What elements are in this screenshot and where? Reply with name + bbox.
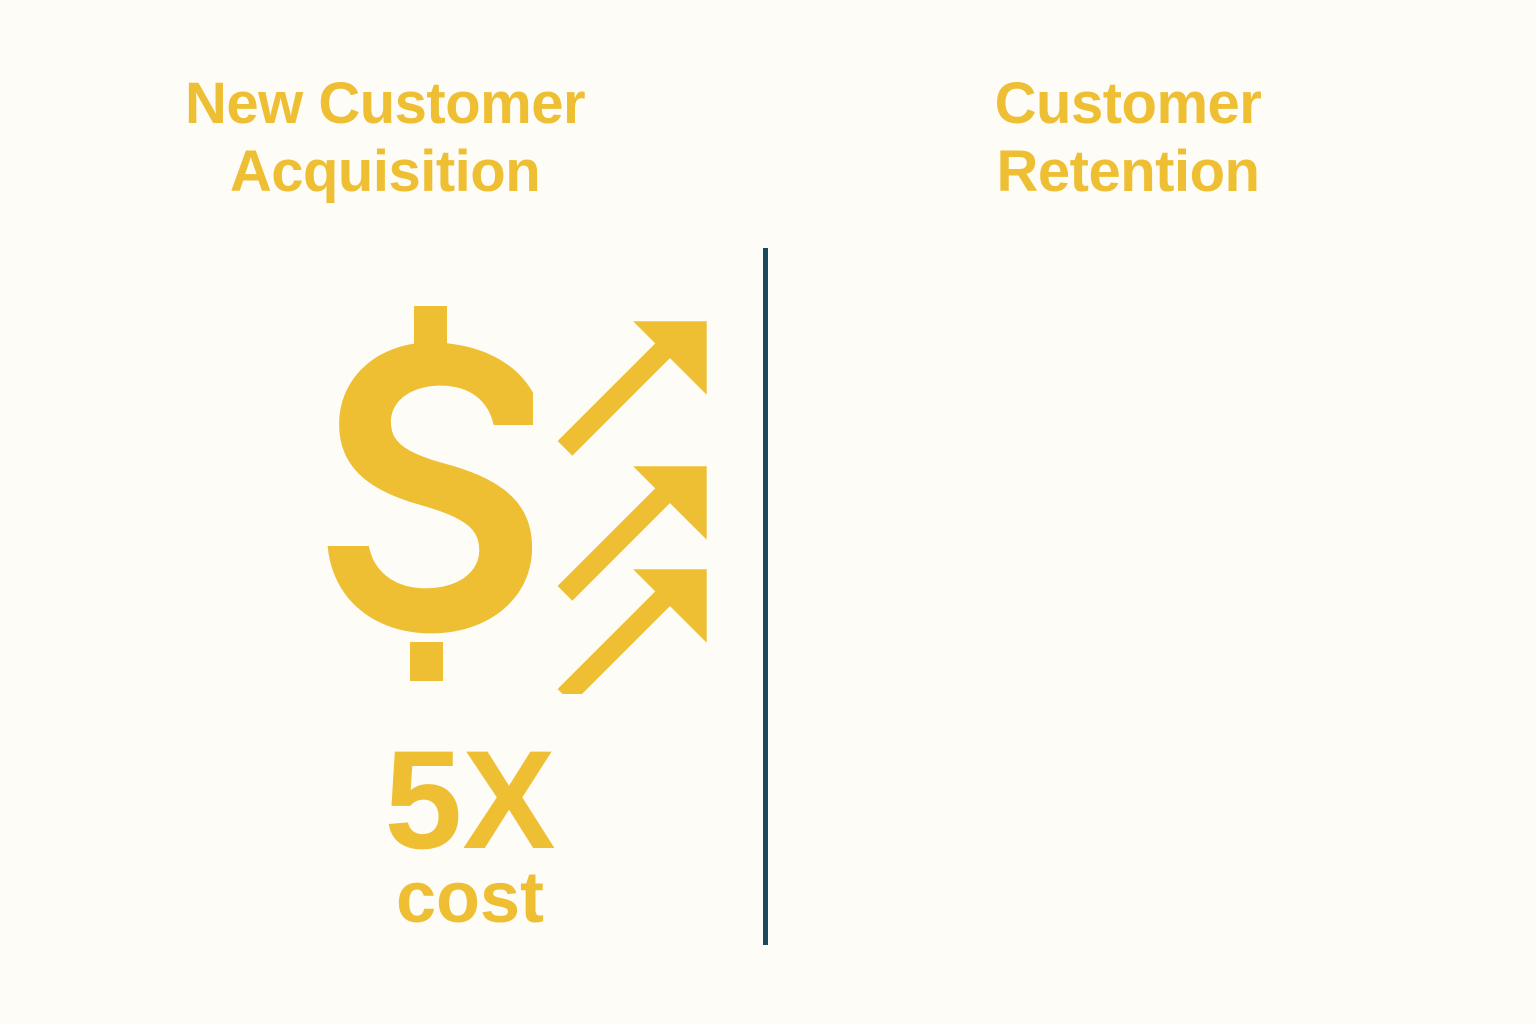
page-title-retention: Customer Retention xyxy=(878,70,1378,207)
column-new-customer-acquisition: New Customer Acquisition xyxy=(0,0,763,1024)
cost-caption-acquisition: cost xyxy=(270,862,670,934)
cost-comparison-infographic: New Customer Acquisition xyxy=(0,0,1536,1024)
multiplier-value-acquisition: 5X xyxy=(270,730,670,870)
column-customer-retention: Customer Retention xyxy=(768,0,1536,1024)
dollar-sign-icon xyxy=(318,306,533,686)
page-title-acquisition: New Customer Acquisition xyxy=(90,70,680,207)
rising-arrows-group xyxy=(545,294,717,699)
icon-group-acquisition xyxy=(318,296,708,696)
up-arrow-icon xyxy=(558,321,707,455)
